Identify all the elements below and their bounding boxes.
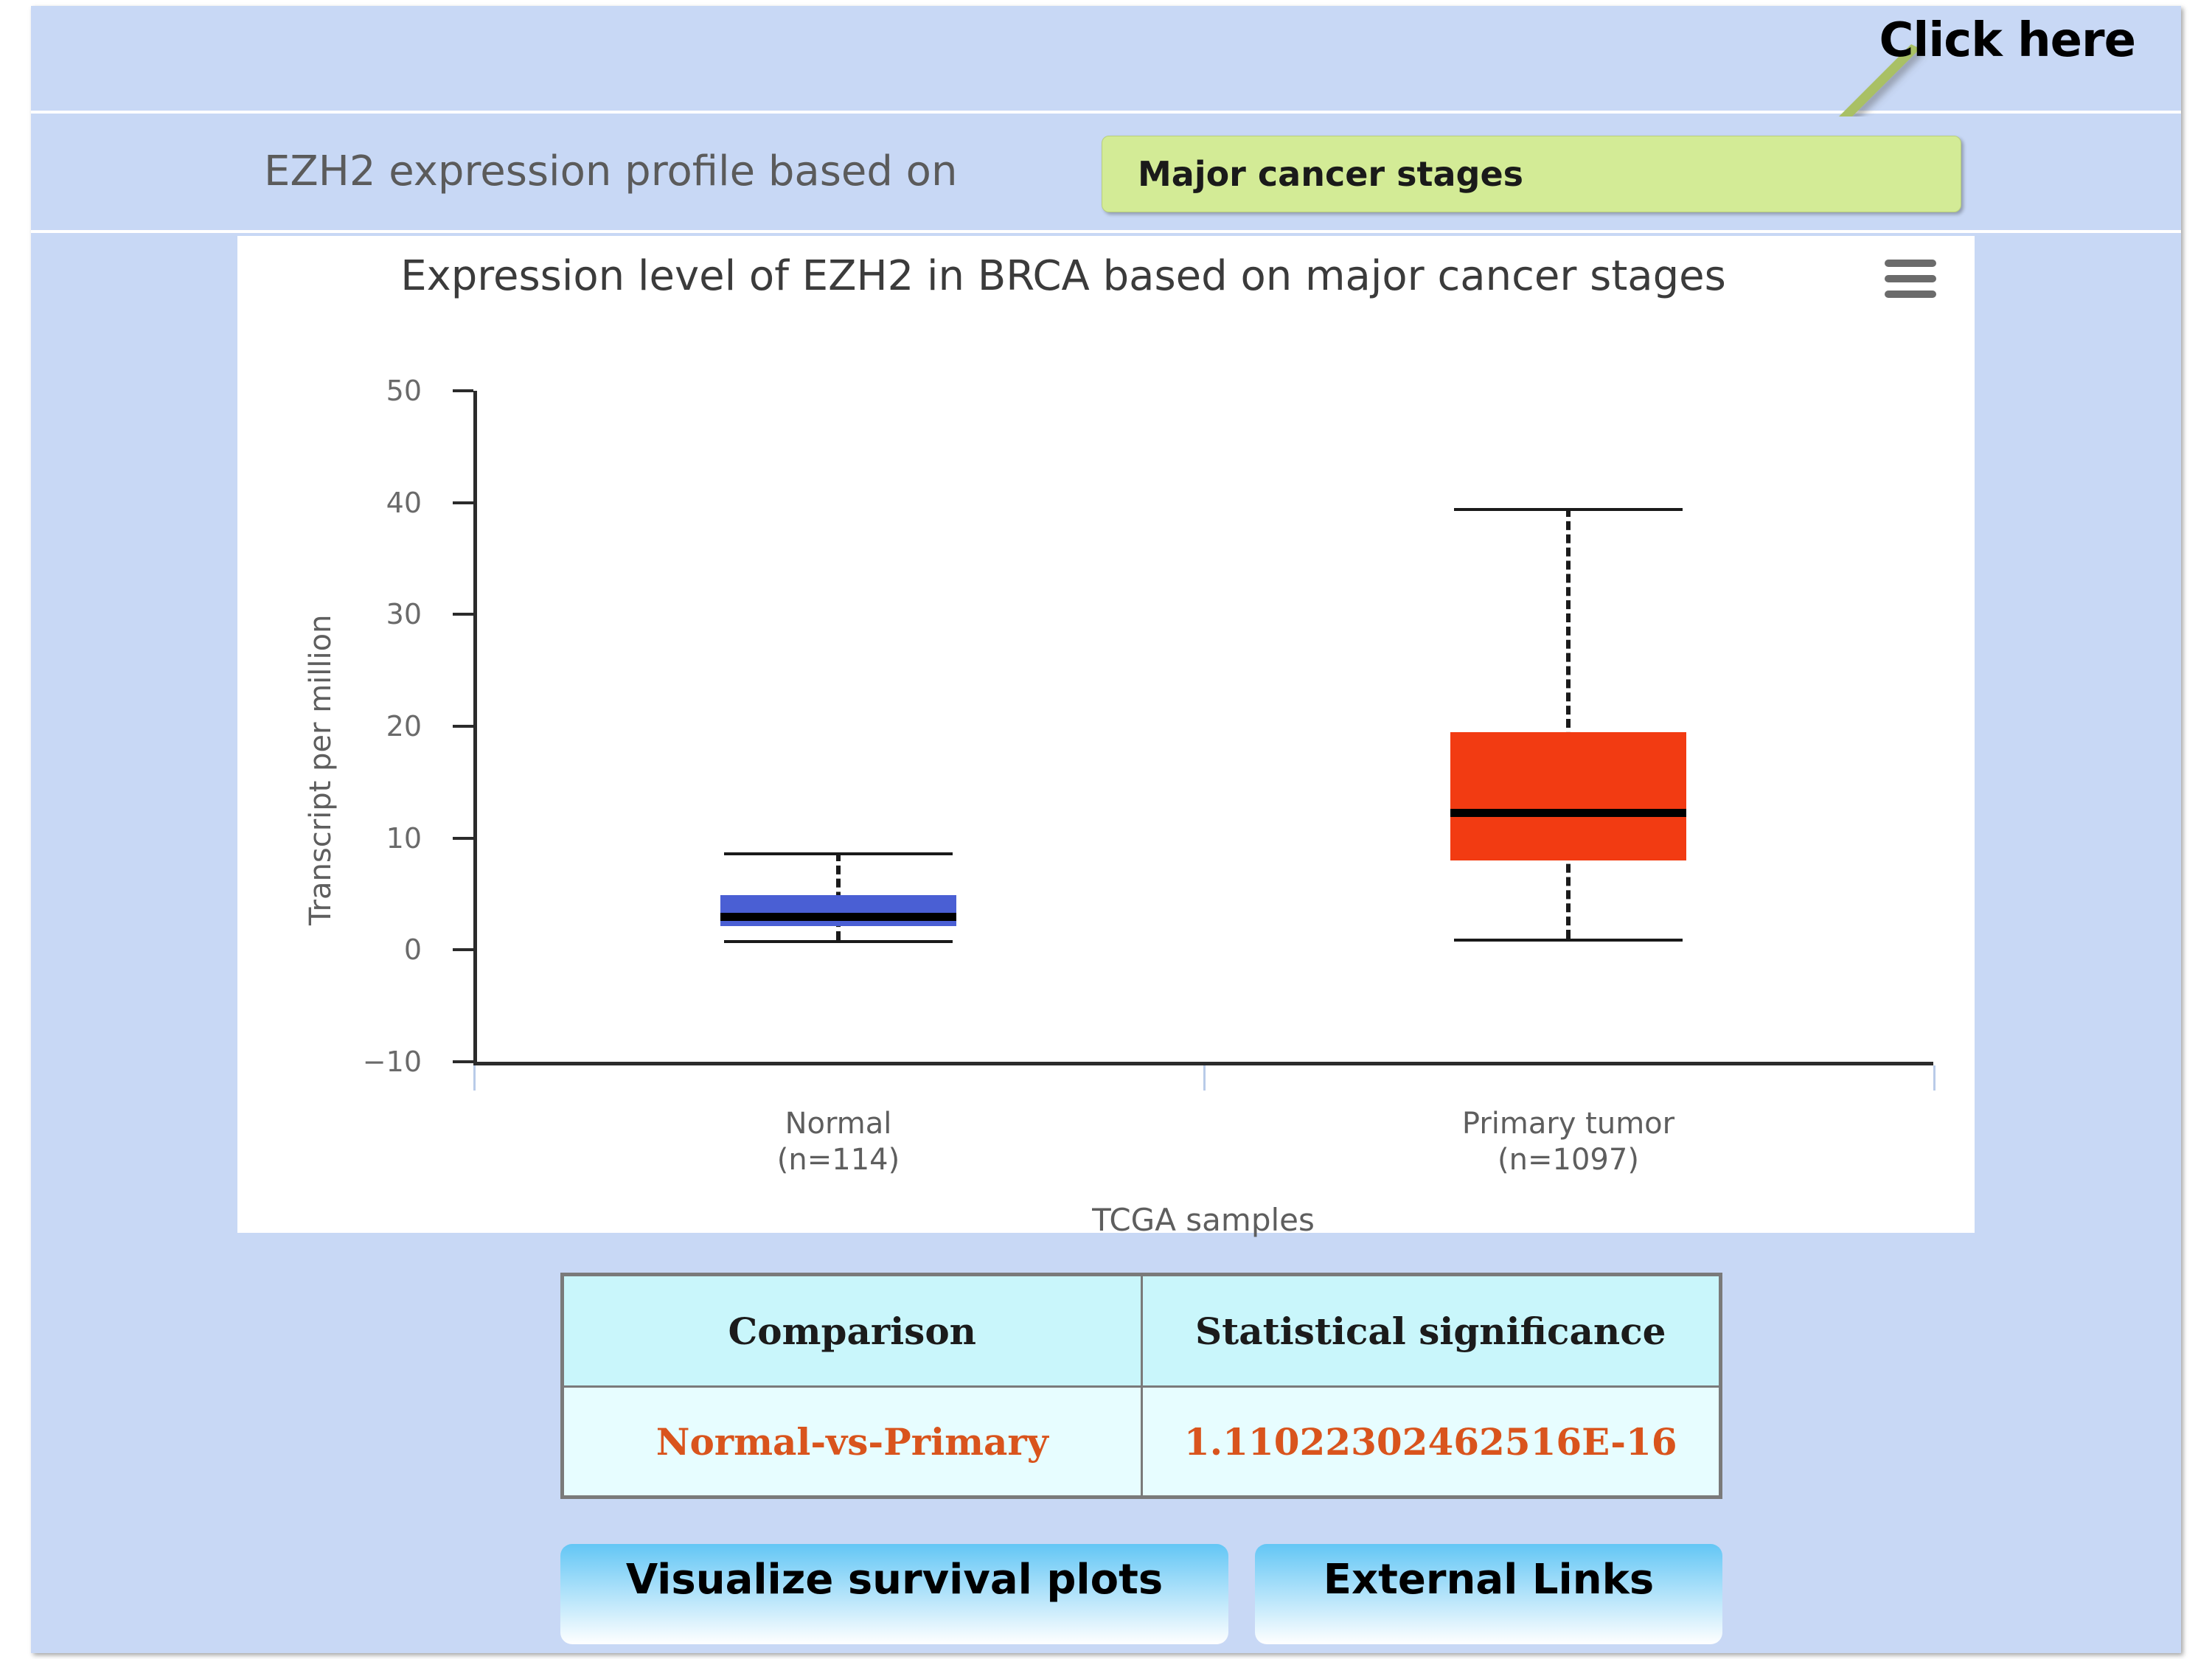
profile-selector-row: EZH2 expression profile based on Major c… <box>31 116 2181 233</box>
page-root: Click here EZH2 expression profile based… <box>31 6 2181 1653</box>
y-tick-mark <box>453 948 473 951</box>
category-count: (n=114) <box>777 1143 900 1177</box>
statistics-table: Comparison Statistical significance Norm… <box>560 1273 1722 1499</box>
category-name: Normal <box>785 1107 892 1141</box>
category-count: (n=1097) <box>1498 1143 1639 1177</box>
y-tick-label: 0 <box>333 933 422 966</box>
y-tick-label: −10 <box>333 1046 422 1078</box>
box-normal <box>720 895 956 926</box>
y-tick-mark <box>453 837 473 840</box>
table-row: Normal-vs-Primary 1.11022302462516E-16 <box>563 1387 1721 1498</box>
whisker-cap-upper <box>1454 508 1683 511</box>
cancer-stage-select[interactable]: Major cancer stages <box>1102 136 1961 212</box>
chart-panel: Expression level of EZH2 in BRCA based o… <box>237 236 1975 1233</box>
whisker-cap-upper <box>724 852 953 855</box>
click-here-label: Click here <box>1879 13 2135 68</box>
y-tick-label: 50 <box>333 375 422 407</box>
whisker-cap-lower <box>1454 939 1683 942</box>
x-tick-mark <box>1203 1065 1206 1091</box>
whisker-line <box>1566 508 1571 939</box>
x-category-label: Normal(n=114) <box>777 1106 900 1178</box>
whisker-cap-lower <box>724 940 953 943</box>
external-links-button[interactable]: External Links <box>1255 1544 1722 1644</box>
x-tick-mark <box>473 1065 476 1091</box>
y-tick-label: 30 <box>333 598 422 630</box>
y-axis-title: Transcript per million <box>304 615 338 925</box>
cell-significance: 1.11022302462516E-16 <box>1141 1387 1721 1498</box>
y-tick-label: 40 <box>333 487 422 519</box>
cell-comparison: Normal-vs-Primary <box>563 1387 1142 1498</box>
x-category-label: Primary tumor(n=1097) <box>1462 1106 1674 1178</box>
x-tick-mark <box>1933 1065 1935 1091</box>
y-tick-label: 20 <box>333 710 422 742</box>
profile-selector-label: EZH2 expression profile based on <box>264 147 957 195</box>
action-button-bar: Visualize survival plots External Links <box>560 1544 1722 1644</box>
median-line <box>720 913 956 921</box>
median-line <box>1450 809 1686 817</box>
x-axis-title: TCGA samples <box>1092 1202 1315 1238</box>
y-tick-mark <box>453 613 473 616</box>
header-significance: Statistical significance <box>1141 1275 1721 1387</box>
header-comparison: Comparison <box>563 1275 1142 1387</box>
visualize-survival-plots-button[interactable]: Visualize survival plots <box>560 1544 1228 1644</box>
y-tick-mark <box>453 725 473 728</box>
y-tick-mark <box>453 389 473 392</box>
table-header-row: Comparison Statistical significance <box>563 1275 1721 1387</box>
y-tick-mark <box>453 1060 473 1063</box>
boxplot-plot-area: 50403020100−10Transcript per millionNorm… <box>237 236 1975 1233</box>
y-tick-mark <box>453 501 473 504</box>
box-primary-tumor <box>1450 732 1686 860</box>
annotation-banner: Click here <box>31 6 2181 114</box>
y-tick-label: 10 <box>333 822 422 855</box>
category-name: Primary tumor <box>1462 1107 1674 1141</box>
y-axis-line <box>473 391 477 1065</box>
